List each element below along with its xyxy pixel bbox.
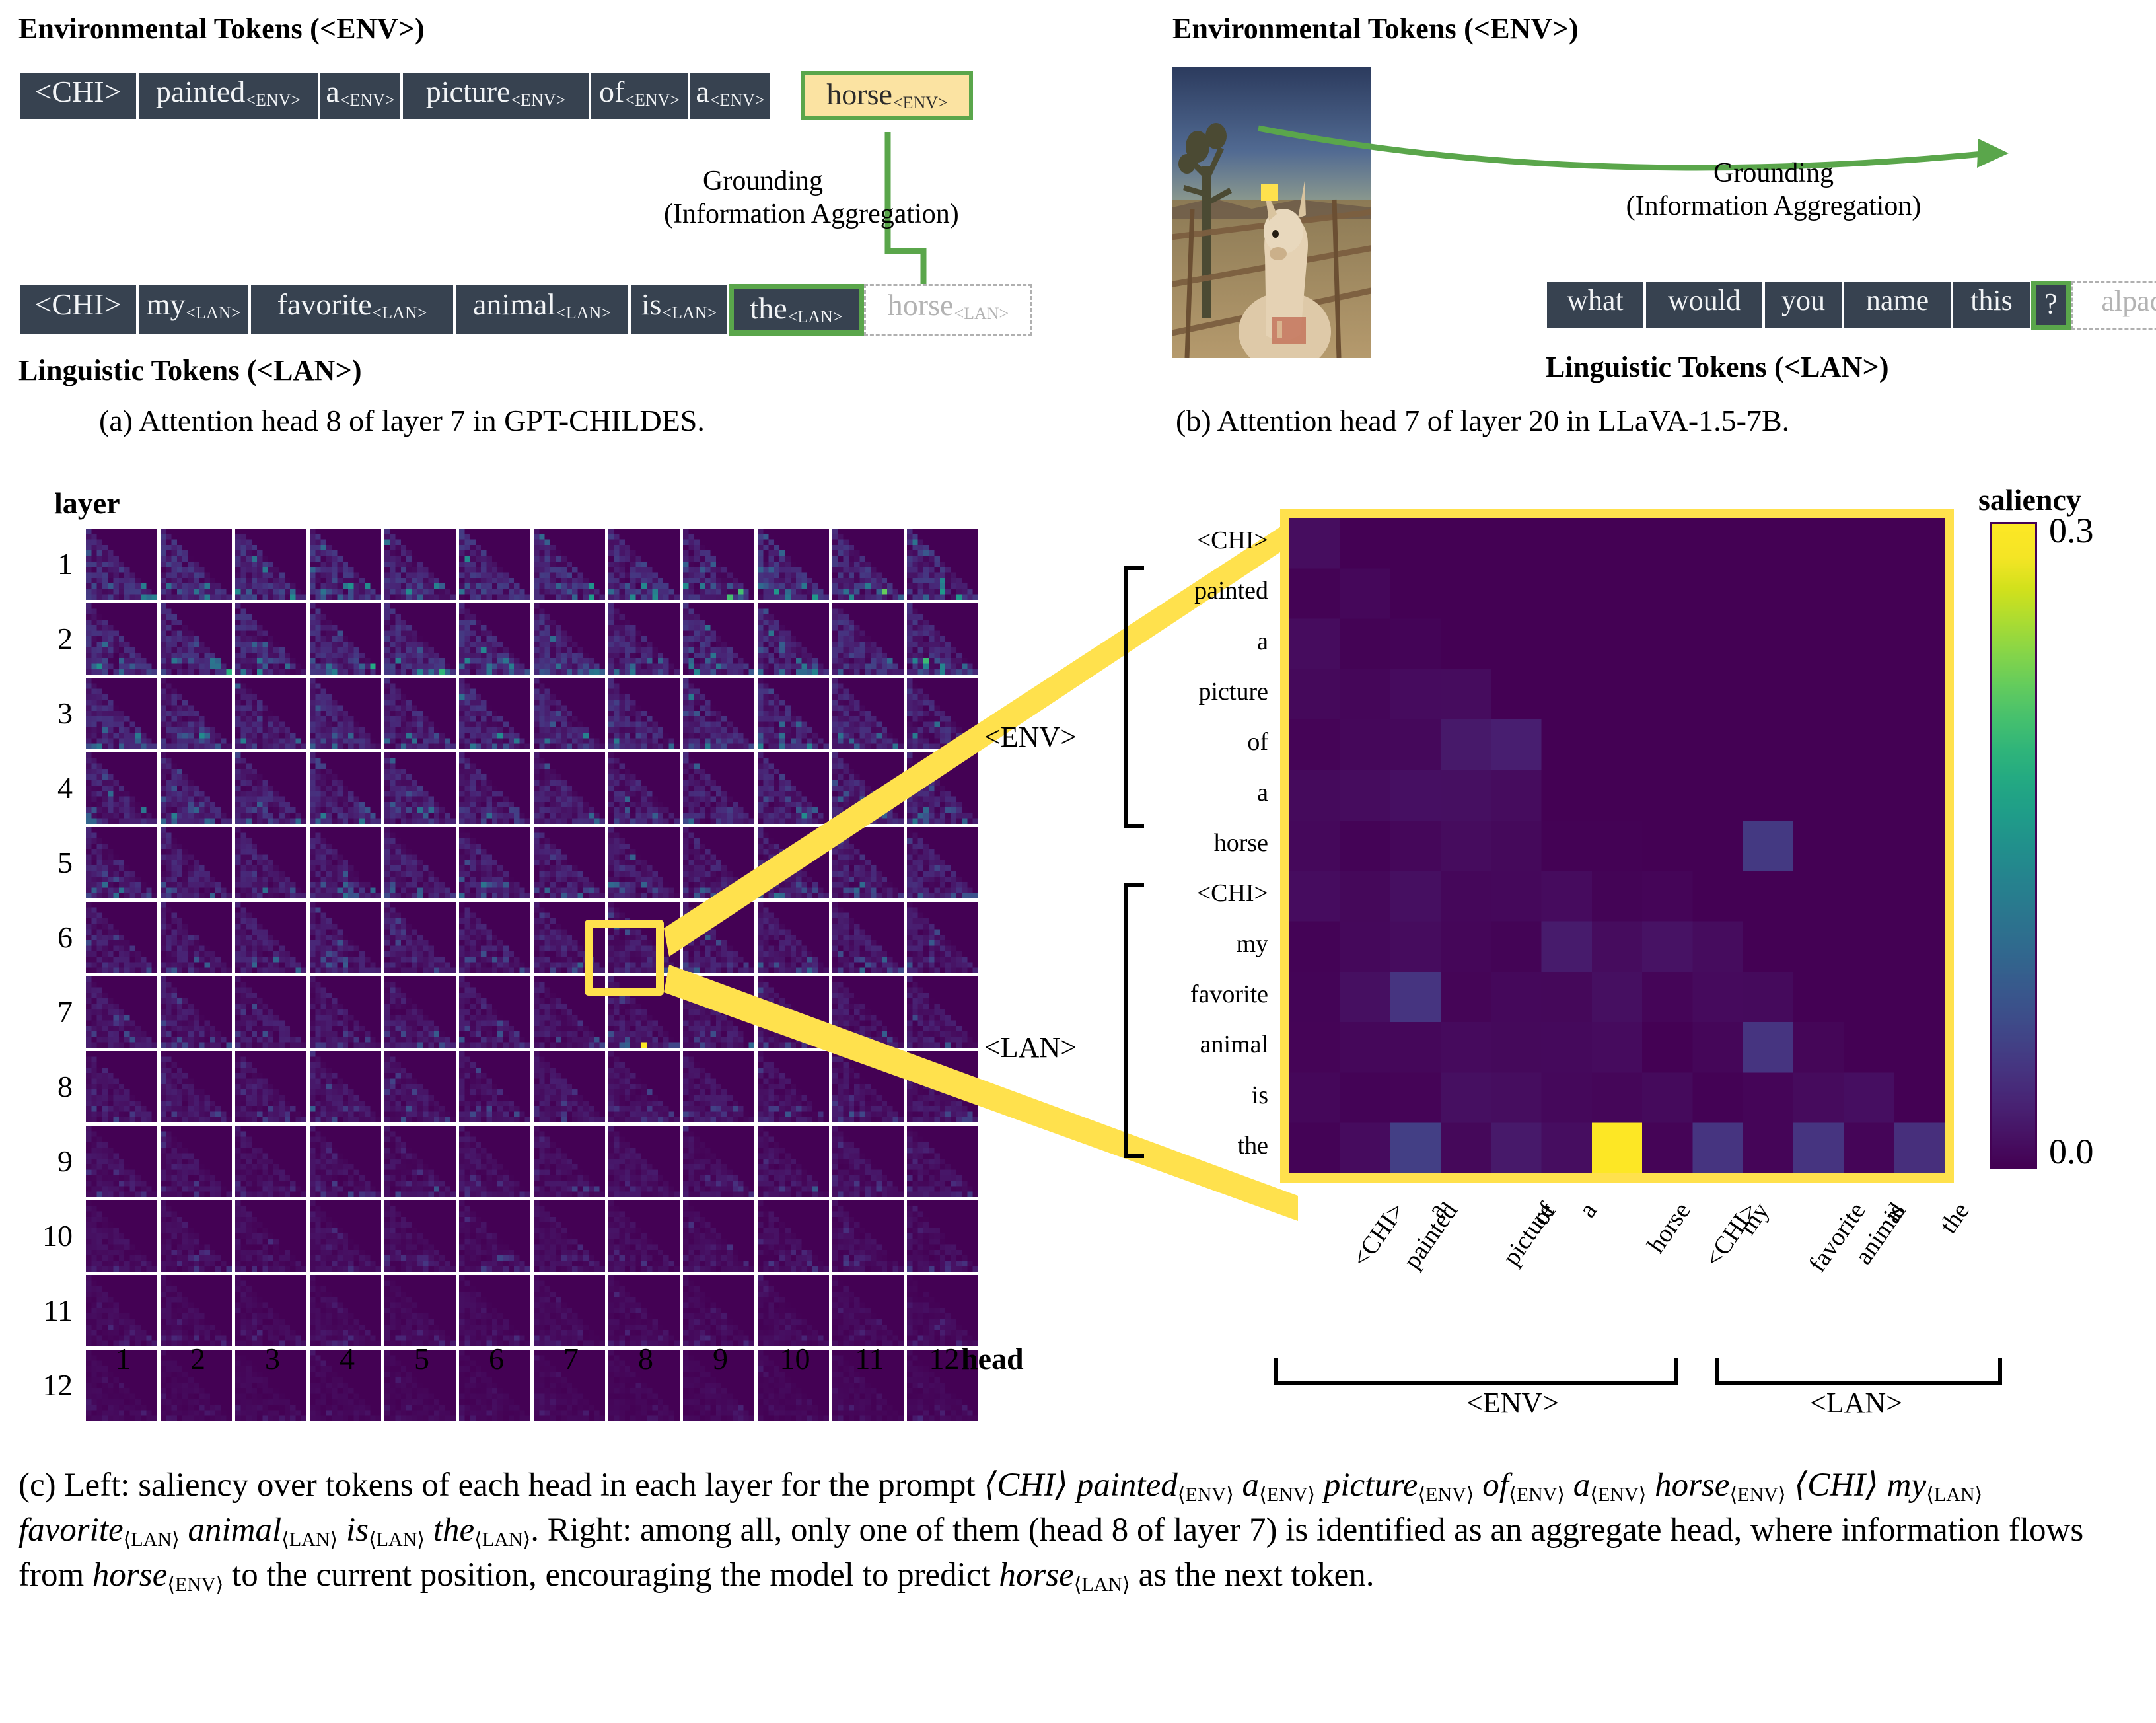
token-word: picture (426, 77, 511, 107)
mini-heatmap[interactable] (459, 1200, 530, 1272)
mini-heatmap[interactable] (235, 976, 306, 1048)
head-tick: 8 (608, 1341, 683, 1376)
token-cell: name (1843, 281, 1952, 330)
mini-heatmap[interactable] (161, 752, 232, 824)
mini-heatmap[interactable] (235, 529, 306, 600)
token-word: is (641, 289, 662, 320)
mini-heatmap[interactable] (310, 1275, 381, 1346)
panel-b-lan-token-row: whatwouldyounamethis?alpaca (1546, 281, 2156, 330)
mini-heatmap[interactable] (310, 529, 381, 600)
panel-a-grounding-label: Grounding (Information Aggregation) (664, 165, 862, 231)
x-token-label: horse (1641, 1197, 1696, 1259)
token-cell: horse<LAN> (864, 284, 1032, 336)
panel-a-env-token-row: <CHI>painted<ENV>a<ENV>picture<ENV>of<EN… (18, 71, 973, 120)
token-word: ? (2044, 289, 2058, 318)
layer-tick: 4 (26, 752, 73, 827)
token-cell: a<ENV> (319, 71, 402, 120)
mini-heatmap[interactable] (534, 1275, 605, 1346)
mini-heatmap[interactable] (310, 902, 381, 973)
token-word: animal (473, 289, 556, 320)
token-subscript: <LAN> (556, 305, 611, 322)
layer-tick: 3 (26, 678, 73, 752)
mini-heatmap[interactable] (310, 1051, 381, 1122)
token-cell: the<LAN> (729, 284, 864, 336)
mini-heatmap[interactable] (832, 1275, 904, 1346)
token-cell: ? (2031, 281, 2071, 330)
token-word: a (326, 77, 339, 107)
mini-heatmap[interactable] (161, 976, 232, 1048)
token-subscript: <ENV> (246, 92, 301, 109)
mini-heatmap[interactable] (86, 752, 157, 824)
colorbar (1990, 522, 2037, 1169)
token-cell: you (1764, 281, 1843, 330)
token-cell: alpaca (2071, 281, 2156, 330)
token-word: of (599, 77, 624, 107)
mini-heatmap[interactable] (86, 1200, 157, 1272)
token-word: painted (156, 77, 245, 107)
mini-heatmap[interactable] (86, 529, 157, 600)
panel-a-caption: (a) Attention head 8 of layer 7 in GPT-C… (99, 403, 705, 438)
colorbar-gradient (1992, 524, 2035, 1167)
mini-heatmap[interactable] (235, 827, 306, 898)
token-subscript: <LAN> (954, 305, 1009, 322)
mini-heatmap[interactable] (459, 529, 530, 600)
detail-heatmap (1289, 518, 1945, 1173)
panel-b-env-title: Environmental Tokens (<ENV>) (1172, 12, 1579, 46)
layer-tick: 12 (26, 1350, 73, 1424)
panel-a-lan-title: Linguistic Tokens (<LAN>) (18, 353, 362, 387)
mini-heatmap[interactable] (384, 603, 456, 675)
token-word: a (696, 77, 709, 107)
head-tick: 9 (683, 1341, 758, 1376)
token-cell: my<LAN> (137, 284, 250, 336)
token-word: the (750, 293, 787, 324)
mini-heatmap[interactable] (310, 827, 381, 898)
token-cell: <CHI> (18, 284, 137, 336)
panel-b-lan-title: Linguistic Tokens (<LAN>) (1546, 350, 1889, 384)
head-tick: 7 (534, 1341, 608, 1376)
colorbar-min-tick: 0.0 (2049, 1131, 2094, 1172)
x-token-label: the (1934, 1197, 1976, 1239)
mini-heatmap[interactable] (459, 1275, 530, 1346)
mini-heatmap[interactable] (161, 1051, 232, 1122)
figure-caption-c: (c) Left: saliency over tokens of each h… (18, 1463, 2139, 1597)
mini-heatmap[interactable] (384, 827, 456, 898)
head-tick: 3 (235, 1341, 310, 1376)
mini-heatmap[interactable] (235, 752, 306, 824)
colorbar-max-tick: 0.3 (2049, 510, 2094, 551)
mini-heatmap[interactable] (310, 603, 381, 675)
alpaca-photo (1172, 67, 1371, 358)
head-tick: 5 (384, 1341, 459, 1376)
token-subscript: <ENV> (625, 92, 680, 109)
mini-heatmap[interactable] (310, 976, 381, 1048)
x-token-label: <CHI> (1346, 1197, 1411, 1272)
alpaca-photo-svg (1172, 67, 1371, 358)
token-word: <CHI> (34, 77, 121, 107)
token-subscript: <ENV> (710, 92, 765, 109)
token-word: what (1567, 286, 1624, 315)
head-tick-labels: 123456789101112 (86, 1341, 982, 1376)
mini-heatmap[interactable] (235, 1200, 306, 1272)
token-word: would (1668, 286, 1741, 315)
detail-heatmap-frame (1280, 509, 1954, 1183)
mini-heatmap[interactable] (384, 976, 456, 1048)
mini-heatmap[interactable] (235, 1051, 306, 1122)
layer-tick: 10 (26, 1200, 73, 1275)
token-subscript: <LAN> (788, 309, 843, 326)
token-cell: a<ENV> (689, 71, 772, 120)
token-word: my (147, 289, 186, 320)
head-tick: 6 (459, 1341, 534, 1376)
mini-heatmap[interactable] (459, 752, 530, 824)
token-cell: is<LAN> (629, 284, 729, 336)
mini-heatmap[interactable] (459, 678, 530, 749)
token-cell: favorite<LAN> (250, 284, 454, 336)
mini-heatmap[interactable] (384, 1200, 456, 1272)
layer-tick: 6 (26, 902, 73, 976)
x-token-label: a (1573, 1197, 1603, 1223)
token-subscript: <LAN> (662, 305, 717, 322)
mini-heatmap[interactable] (384, 902, 456, 973)
token-word: alpaca (2101, 287, 2156, 316)
token-cell: animal<LAN> (454, 284, 629, 336)
token-word: horse (888, 290, 954, 320)
token-subscript: <ENV> (340, 92, 395, 109)
mini-heatmap[interactable] (235, 603, 306, 675)
mini-heatmap[interactable] (459, 1051, 530, 1122)
token-word: favorite (277, 289, 372, 320)
mini-heatmap[interactable] (161, 603, 232, 675)
mini-heatmap[interactable] (758, 1275, 829, 1346)
token-subscript: <ENV> (893, 94, 948, 112)
mini-heatmap[interactable] (384, 1051, 456, 1122)
layer-tick: 5 (26, 827, 73, 902)
layer-tick: 9 (26, 1126, 73, 1200)
mini-heatmap[interactable] (384, 678, 456, 749)
layer-tick: 8 (26, 1051, 73, 1126)
token-word: you (1781, 286, 1825, 315)
mini-heatmap[interactable] (683, 1275, 754, 1346)
mini-heatmap[interactable] (459, 976, 530, 1048)
mini-heatmap[interactable] (310, 678, 381, 749)
mini-heatmap[interactable] (459, 827, 530, 898)
mini-heatmap[interactable] (235, 1126, 306, 1197)
layer-tick: 2 (26, 603, 73, 678)
token-subscript: <LAN> (186, 305, 241, 322)
layer-tick: 7 (26, 976, 73, 1051)
token-cell: this (1952, 281, 2031, 330)
mini-heatmap[interactable] (86, 603, 157, 675)
mini-heatmap[interactable] (86, 678, 157, 749)
panel-a-lan-token-row: <CHI>my<LAN>favorite<LAN>animal<LAN>is<L… (18, 284, 1032, 336)
token-cell: <CHI> (18, 71, 137, 120)
mini-heatmap[interactable] (608, 1275, 680, 1346)
mini-heatmap[interactable] (459, 1126, 530, 1197)
head-tick: 4 (310, 1341, 384, 1376)
panel-b-caption: (b) Attention head 7 of layer 20 in LLaV… (1176, 403, 1789, 438)
head-tick: 10 (758, 1341, 832, 1376)
y-group-label-lan: <LAN> (958, 1031, 1103, 1064)
x-group-label-lan: <LAN> (1625, 1386, 2087, 1420)
mini-heatmap[interactable] (384, 529, 456, 600)
token-subscript: <LAN> (373, 305, 427, 322)
mini-heatmap[interactable] (384, 1126, 456, 1197)
head-axis-label: head (961, 1341, 1024, 1376)
mini-heatmap[interactable] (384, 752, 456, 824)
token-word: horse (826, 79, 892, 110)
mini-heatmap[interactable] (459, 902, 530, 973)
mini-heatmap[interactable] (310, 1200, 381, 1272)
mini-heatmap[interactable] (161, 529, 232, 600)
head-tick: 2 (161, 1341, 235, 1376)
mini-heatmap[interactable] (86, 902, 157, 973)
mini-heatmap[interactable] (907, 1275, 978, 1346)
token-word: name (1866, 286, 1929, 315)
layer-tick: 1 (26, 529, 73, 603)
mini-heatmap[interactable] (86, 1126, 157, 1197)
token-word: this (1970, 286, 2013, 315)
mini-heatmap[interactable] (86, 976, 157, 1048)
token-word: <CHI> (34, 289, 121, 320)
mini-heatmap[interactable] (310, 1126, 381, 1197)
mini-heatmap[interactable] (235, 678, 306, 749)
mini-heatmap[interactable] (86, 1275, 157, 1346)
mini-heatmap[interactable] (235, 1275, 306, 1346)
head-tick: 11 (832, 1341, 907, 1376)
token-subscript: <ENV> (511, 92, 565, 109)
mini-heatmap[interactable] (384, 1275, 456, 1346)
layer-tick: 11 (26, 1275, 73, 1350)
token-cell: would (1645, 281, 1764, 330)
token-cell: what (1546, 281, 1645, 330)
mini-heatmap[interactable] (161, 827, 232, 898)
mini-heatmap[interactable] (235, 902, 306, 973)
mini-heatmap[interactable] (161, 902, 232, 973)
mini-heatmap[interactable] (86, 827, 157, 898)
layer-tick-labels: 123456789101112 (26, 529, 73, 1424)
y-group-label-env: <ENV> (958, 720, 1103, 754)
panel-a-env-title: Environmental Tokens (<ENV>) (18, 12, 425, 46)
mini-heatmap[interactable] (161, 1200, 232, 1272)
mini-heatmap[interactable] (86, 1051, 157, 1122)
head-tick: 1 (86, 1341, 161, 1376)
token-cell: painted<ENV> (137, 71, 319, 120)
layer-axis-label: layer (54, 486, 120, 521)
token-cell: picture<ENV> (402, 71, 590, 120)
detail-x-tick-labels: <CHI>paintedapictureofahorse<CHI>myfavor… (1280, 1194, 1960, 1346)
token-cell: horse<ENV> (801, 71, 973, 120)
mini-heatmap[interactable] (459, 603, 530, 675)
panel-b-grounding-label: Grounding (Information Aggregation) (1542, 157, 2005, 223)
token-cell: of<ENV> (590, 71, 689, 120)
y-group-brackets (1116, 542, 1196, 1202)
mini-heatmap[interactable] (161, 1275, 232, 1346)
mini-heatmap[interactable] (161, 1126, 232, 1197)
mini-heatmap[interactable] (310, 752, 381, 824)
mini-heatmap[interactable] (161, 678, 232, 749)
